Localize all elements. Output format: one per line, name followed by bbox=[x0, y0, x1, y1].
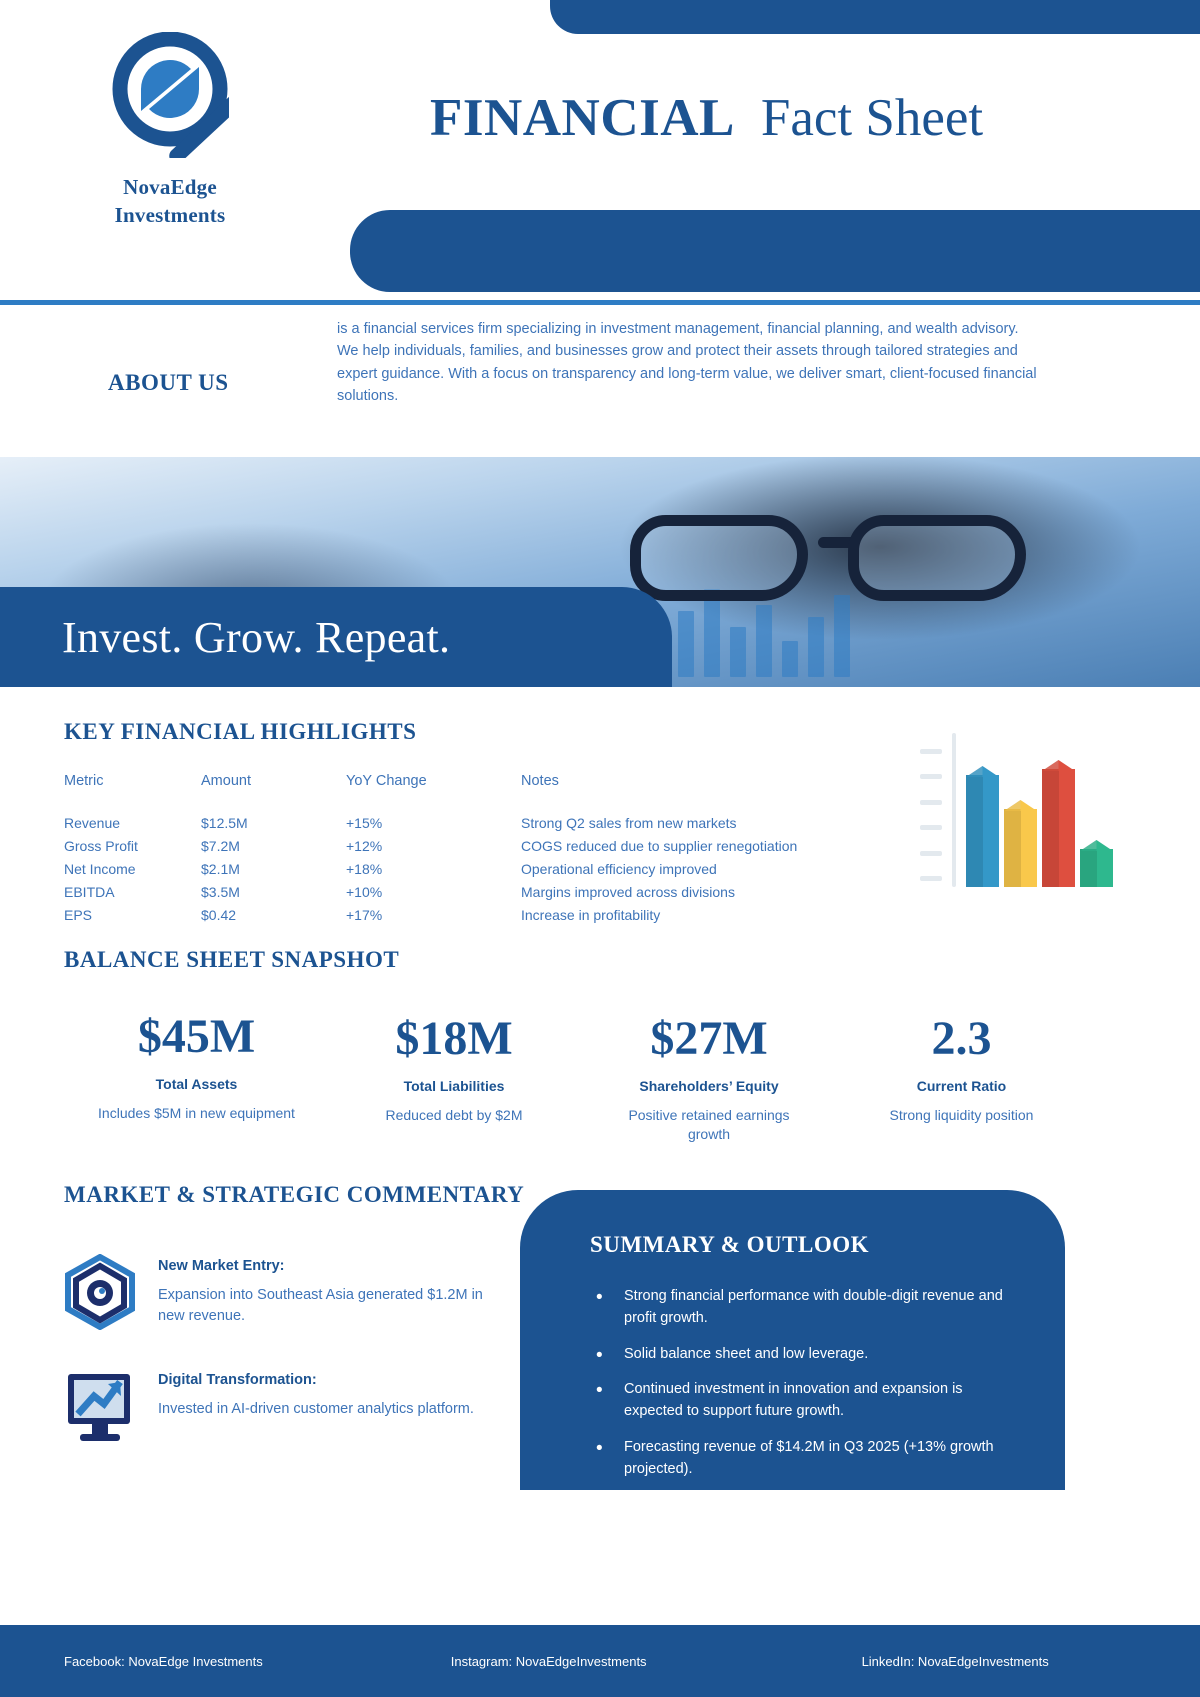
commentary-items: New Market Entry: Expansion into Southea… bbox=[64, 1254, 534, 1444]
table-header-row: Metric Amount YoY Change Notes bbox=[64, 773, 884, 815]
balance-cell-current-ratio: 2.3 Current Ratio Strong liquidity posit… bbox=[839, 1013, 1084, 1144]
hero-banner: Invest. Grow. Repeat. bbox=[0, 457, 1200, 687]
list-item: New Market Entry: Expansion into Southea… bbox=[64, 1254, 534, 1330]
brand-logo-block: NovaEdge Investments bbox=[80, 32, 260, 229]
commentary-section: MARKET & STRATEGIC COMMENTARY New Ma bbox=[0, 1182, 1200, 1512]
table-row: EBITDA $3.5M +10% Margins improved acros… bbox=[64, 884, 884, 907]
list-item: Strong financial performance with double… bbox=[590, 1286, 1019, 1330]
column-header-notes: Notes bbox=[521, 773, 884, 815]
column-header-yoy: YoY Change bbox=[346, 773, 521, 815]
chart-bar bbox=[1080, 839, 1113, 887]
column-header-metric: Metric bbox=[64, 773, 201, 815]
cell-metric: Revenue bbox=[64, 815, 201, 838]
balance-cell-total-assets: $45M Total Assets Includes $5M in new eq… bbox=[64, 1013, 329, 1144]
cell-amount: $7.2M bbox=[201, 838, 346, 861]
page-header: NovaEdge Investments FINANCIAL Fact Shee… bbox=[0, 0, 1200, 305]
novaedge-logo-icon bbox=[111, 32, 229, 158]
cell-metric: Net Income bbox=[64, 861, 201, 884]
summary-bullet-list: Strong financial performance with double… bbox=[590, 1286, 1019, 1480]
page-title-bold: FINANCIAL bbox=[430, 88, 735, 148]
header-mid-accent-bar bbox=[350, 210, 1200, 292]
cell-notes: Strong Q2 sales from new markets bbox=[521, 815, 884, 838]
cell-metric: EBITDA bbox=[64, 884, 201, 907]
commentary-item-desc: Invested in AI-driven customer analytics… bbox=[158, 1399, 474, 1420]
balance-label: Shareholders’ Equity bbox=[579, 1078, 839, 1094]
commentary-heading: MARKET & STRATEGIC COMMENTARY bbox=[64, 1182, 534, 1208]
cell-amount: $0.42 bbox=[201, 907, 346, 930]
cell-notes: Margins improved across divisions bbox=[521, 884, 884, 907]
hero-tagline-band: Invest. Grow. Repeat. bbox=[0, 587, 672, 687]
cell-amount: $2.1M bbox=[201, 861, 346, 884]
table-row: Gross Profit $7.2M +12% COGS reduced due… bbox=[64, 838, 884, 861]
brand-name-line2: Investments bbox=[115, 203, 226, 227]
fact-sheet-page: NovaEdge Investments FINANCIAL Fact Shee… bbox=[0, 0, 1200, 1697]
commentary-item-desc: Expansion into Southeast Asia generated … bbox=[158, 1285, 503, 1327]
cell-yoy: +10% bbox=[346, 884, 521, 907]
highlights-table: Metric Amount YoY Change Notes Revenue $… bbox=[64, 773, 884, 930]
monitor-growth-icon bbox=[64, 1368, 136, 1444]
chart-bar bbox=[966, 765, 999, 887]
summary-outlook-panel: SUMMARY & OUTLOOK Strong financial perfo… bbox=[520, 1190, 1065, 1490]
cell-yoy: +12% bbox=[346, 838, 521, 861]
balance-label: Total Assets bbox=[64, 1076, 329, 1092]
cell-yoy: +15% bbox=[346, 815, 521, 838]
about-section: ABOUT US is a financial services firm sp… bbox=[0, 305, 1200, 457]
balance-metrics-grid: $45M Total Assets Includes $5M in new eq… bbox=[64, 1013, 1084, 1144]
list-item: Digital Transformation: Invested in AI-d… bbox=[64, 1368, 534, 1444]
about-heading: ABOUT US bbox=[108, 370, 229, 396]
commentary-text-block: Digital Transformation: Invested in AI-d… bbox=[158, 1368, 474, 1444]
balance-cell-shareholders-equity: $27M Shareholders’ Equity Positive retai… bbox=[579, 1013, 839, 1144]
chart-bars-group bbox=[966, 745, 1114, 887]
footer-facebook[interactable]: Facebook: NovaEdge Investments bbox=[64, 1654, 263, 1669]
cell-notes: Operational efficiency improved bbox=[521, 861, 884, 884]
footer-linkedin[interactable]: LinkedIn: NovaEdgeInvestments bbox=[862, 1654, 1049, 1669]
balance-heading: BALANCE SHEET SNAPSHOT bbox=[64, 947, 1200, 973]
chart-y-axis-line bbox=[952, 733, 956, 887]
commentary-text-block: New Market Entry: Expansion into Southea… bbox=[158, 1254, 503, 1330]
balance-note: Positive retained earnings growth bbox=[622, 1106, 797, 1144]
table-row: Net Income $2.1M +18% Operational effici… bbox=[64, 861, 884, 884]
commentary-item-title: Digital Transformation: bbox=[158, 1372, 474, 1388]
balance-note: Includes $5M in new equipment bbox=[64, 1104, 329, 1123]
cell-metric: Gross Profit bbox=[64, 838, 201, 861]
balance-note: Reduced debt by $2M bbox=[329, 1106, 579, 1125]
balance-value: $45M bbox=[64, 1013, 329, 1061]
brand-name-line1: NovaEdge bbox=[123, 175, 217, 199]
balance-value: 2.3 bbox=[839, 1015, 1084, 1063]
column-header-amount: Amount bbox=[201, 773, 346, 815]
chart-bar bbox=[1042, 759, 1075, 887]
chart-y-axis-ticks bbox=[920, 749, 942, 881]
balance-cell-total-liabilities: $18M Total Liabilities Reduced debt by $… bbox=[329, 1013, 579, 1144]
balance-value: $18M bbox=[329, 1015, 579, 1063]
target-hexagon-icon bbox=[64, 1254, 136, 1330]
header-top-accent-bar bbox=[550, 0, 1200, 34]
cell-yoy: +17% bbox=[346, 907, 521, 930]
table-row: Revenue $12.5M +15% Strong Q2 sales from… bbox=[64, 815, 884, 838]
brand-name: NovaEdge Investments bbox=[80, 174, 260, 229]
table-row: EPS $0.42 +17% Increase in profitability bbox=[64, 907, 884, 930]
footer-instagram[interactable]: Instagram: NovaEdgeInvestments bbox=[451, 1654, 647, 1669]
balance-label: Total Liabilities bbox=[329, 1078, 579, 1094]
page-title-light: Fact Sheet bbox=[761, 88, 983, 148]
highlights-bar-chart bbox=[920, 725, 1115, 895]
summary-heading: SUMMARY & OUTLOOK bbox=[590, 1232, 1019, 1258]
cell-notes: COGS reduced due to supplier renegotiati… bbox=[521, 838, 884, 861]
balance-value: $27M bbox=[579, 1015, 839, 1063]
cell-yoy: +18% bbox=[346, 861, 521, 884]
hero-eyeglasses-icon bbox=[630, 509, 1080, 619]
cell-metric: EPS bbox=[64, 907, 201, 930]
hero-tagline: Invest. Grow. Repeat. bbox=[62, 612, 450, 663]
list-item: Forecasting revenue of $14.2M in Q3 2025… bbox=[590, 1437, 1019, 1481]
list-item: Continued investment in innovation and e… bbox=[590, 1379, 1019, 1423]
balance-note: Strong liquidity position bbox=[887, 1106, 1037, 1125]
cell-amount: $12.5M bbox=[201, 815, 346, 838]
list-item: Solid balance sheet and low leverage. bbox=[590, 1344, 1019, 1366]
page-footer: Facebook: NovaEdge Investments Instagram… bbox=[0, 1625, 1200, 1697]
commentary-item-title: New Market Entry: bbox=[158, 1258, 503, 1274]
balance-sheet-section: BALANCE SHEET SNAPSHOT $45M Total Assets… bbox=[0, 937, 1200, 1182]
page-title: FINANCIAL Fact Sheet bbox=[430, 88, 983, 148]
about-paragraph: is a financial services firm specializin… bbox=[337, 318, 1037, 408]
chart-bar bbox=[1004, 799, 1037, 887]
balance-label: Current Ratio bbox=[839, 1078, 1084, 1094]
key-financial-highlights-section: KEY FINANCIAL HIGHLIGHTS Metric Amount Y… bbox=[0, 687, 1200, 937]
cell-notes: Increase in profitability bbox=[521, 907, 884, 930]
market-commentary-block: MARKET & STRATEGIC COMMENTARY New Ma bbox=[64, 1182, 534, 1482]
cell-amount: $3.5M bbox=[201, 884, 346, 907]
